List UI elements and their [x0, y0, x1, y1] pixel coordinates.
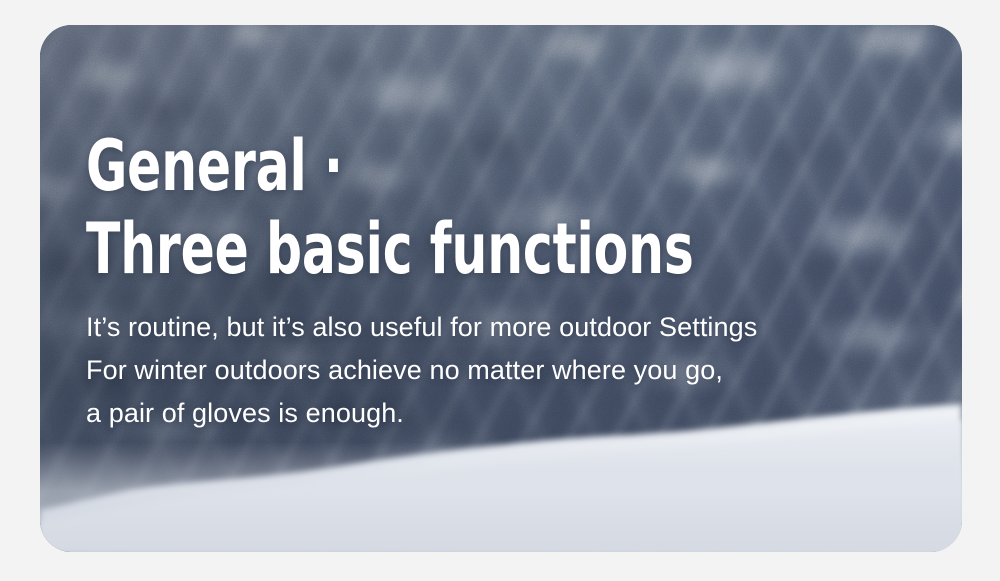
hero-banner-card: General · Three basic functions It’s rou…	[40, 25, 962, 552]
subcopy-line-3: a pair of gloves is enough.	[86, 392, 946, 435]
hero-headline: General · Three basic functions	[86, 125, 774, 290]
headline-line-2: Three basic functions	[86, 208, 774, 291]
subcopy-line-2: For winter outdoors achieve no matter wh…	[86, 349, 946, 392]
hero-subcopy: It’s routine, but it’s also useful for m…	[86, 306, 946, 435]
page-root: General · Three basic functions It’s rou…	[0, 0, 1000, 581]
hero-text-block: General · Three basic functions It’s rou…	[86, 125, 946, 435]
subcopy-line-1: It’s routine, but it’s also useful for m…	[86, 306, 946, 349]
headline-line-1: General ·	[86, 125, 774, 208]
